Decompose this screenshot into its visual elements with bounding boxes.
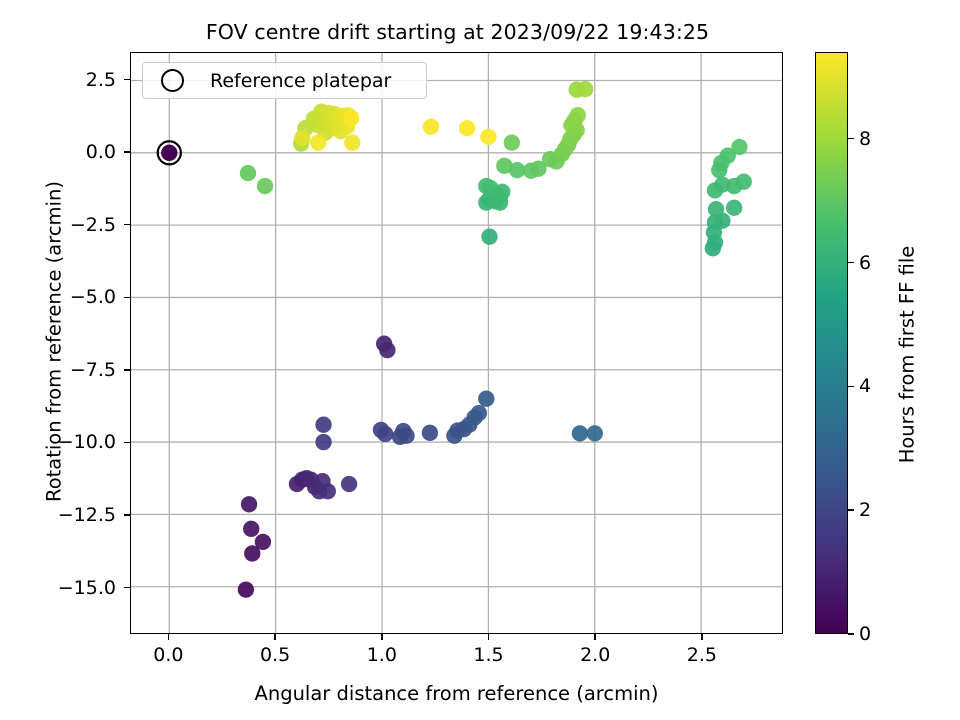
chart-title: FOV centre drift starting at 2023/09/22 … <box>0 20 915 44</box>
scatter-point <box>587 425 603 441</box>
x-tick-mark <box>701 634 703 640</box>
colorbar-tick-mark <box>848 262 854 264</box>
colorbar: 02468 <box>815 52 848 634</box>
y-tick-mark <box>124 442 130 444</box>
scatter-point <box>377 426 393 442</box>
scatter-point <box>315 434 331 450</box>
scatter-point <box>480 129 496 145</box>
scatter-point <box>492 194 508 210</box>
scatter-point <box>478 391 494 407</box>
scatter-point <box>572 425 588 441</box>
scatter-point <box>481 229 497 245</box>
legend: Reference platepar <box>142 62 427 99</box>
scatter-point <box>257 178 273 194</box>
scatter-point <box>570 107 586 123</box>
scatter-point <box>243 521 259 537</box>
x-tick-label: 2.5 <box>687 644 717 666</box>
scatter-point <box>238 581 254 597</box>
scatter-point <box>577 81 593 97</box>
y-tick-mark <box>124 79 130 81</box>
x-tick-label: 0.5 <box>260 644 290 666</box>
scatter-points-layer <box>131 53 782 633</box>
scatter-point <box>294 130 310 146</box>
x-tick-label: 1.0 <box>367 644 397 666</box>
scatter-point <box>471 405 487 421</box>
scatter-point <box>496 158 512 174</box>
scatter-point <box>343 110 359 126</box>
scatter-point <box>708 201 724 217</box>
scatter-point <box>310 135 326 151</box>
reference-platepar-marker <box>158 141 181 164</box>
scatter-point <box>731 139 747 155</box>
x-tick-mark <box>381 634 383 640</box>
scatter-point <box>344 135 360 151</box>
x-axis-label: Angular distance from reference (arcmin) <box>130 682 783 705</box>
figure-canvas: FOV centre drift starting at 2023/09/22 … <box>0 0 960 720</box>
scatter-point <box>341 476 357 492</box>
y-tick-mark <box>124 369 130 371</box>
y-tick-mark <box>124 587 130 589</box>
scatter-point <box>726 200 742 216</box>
y-axis-label: Rotation from reference (arcmin) <box>43 42 66 642</box>
scatter-point <box>241 496 257 512</box>
scatter-point <box>320 483 336 499</box>
y-tick-mark <box>124 514 130 516</box>
legend-marker-reference-platepar-icon <box>161 69 184 92</box>
x-tick-label: 0.0 <box>153 644 183 666</box>
x-tick-mark <box>168 634 170 640</box>
colorbar-tick-mark <box>848 633 854 635</box>
x-tick-label: 1.5 <box>473 644 503 666</box>
scatter-point <box>423 119 439 135</box>
legend-label: Reference platepar <box>210 70 391 92</box>
y-tick-mark <box>124 297 130 299</box>
colorbar-tick-label: 8 <box>859 128 871 150</box>
scatter-point <box>504 135 520 151</box>
colorbar-tick-label: 6 <box>859 252 871 274</box>
x-tick-mark <box>488 634 490 640</box>
x-tick-mark <box>274 634 276 640</box>
colorbar-label: Hours from first FF file <box>896 65 919 645</box>
x-tick-label: 2.0 <box>580 644 610 666</box>
scatter-point <box>240 165 256 181</box>
colorbar-tick-label: 4 <box>859 375 871 397</box>
colorbar-gradient <box>815 52 848 634</box>
scatter-point <box>459 120 475 136</box>
scatter-point <box>398 428 414 444</box>
scatter-point <box>315 417 331 433</box>
colorbar-tick-mark <box>848 509 854 511</box>
y-tick-mark <box>124 151 130 153</box>
y-tick-mark <box>124 224 130 226</box>
colorbar-tick-mark <box>848 386 854 388</box>
colorbar-tick-mark <box>848 138 854 140</box>
scatter-point <box>422 425 438 441</box>
x-tick-mark <box>594 634 596 640</box>
plot-area <box>130 52 783 634</box>
colorbar-tick-label: 2 <box>859 499 871 521</box>
scatter-point <box>736 174 752 190</box>
scatter-point <box>255 534 271 550</box>
colorbar-tick-label: 0 <box>859 623 871 645</box>
scatter-point <box>379 342 395 358</box>
